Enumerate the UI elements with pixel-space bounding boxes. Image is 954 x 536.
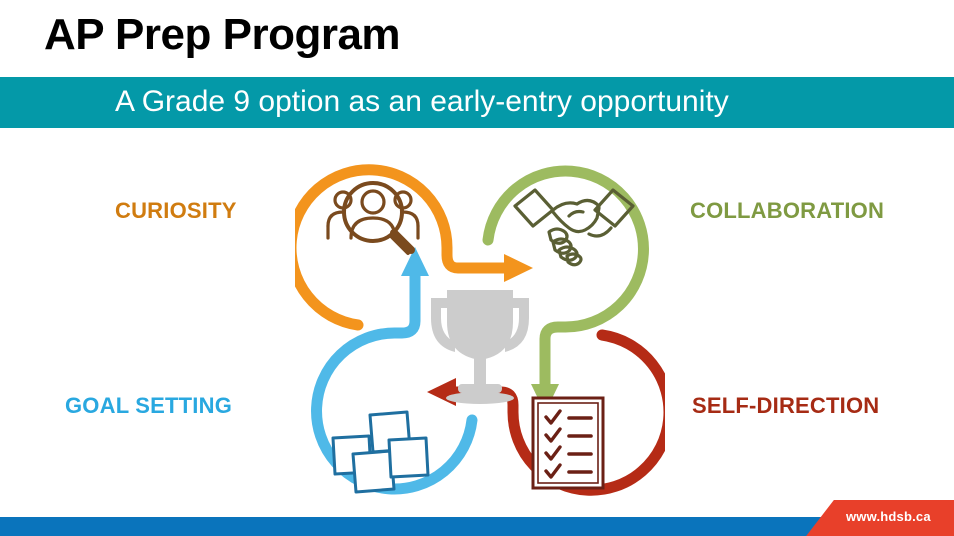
- arrow-head-self-direction: [427, 378, 456, 406]
- label-collaboration: COLLABORATION: [690, 198, 884, 224]
- label-goal-setting: GOAL SETTING: [65, 393, 232, 419]
- label-self-direction: SELF-DIRECTION: [692, 393, 879, 419]
- page-title: AP Prep Program: [44, 10, 400, 61]
- cycle-diagram: [295, 150, 665, 510]
- subtitle-text: A Grade 9 option as an early-entry oppor…: [115, 85, 729, 119]
- label-curiosity: CURIOSITY: [115, 198, 237, 224]
- website-url[interactable]: www.hdsb.ca: [846, 509, 931, 524]
- handshake-icon: [515, 190, 633, 265]
- arrow-head-curiosity: [504, 254, 533, 282]
- magnifier-people-icon: [328, 183, 418, 253]
- slide-canvas: AP Prep Program A Grade 9 option as an e…: [0, 0, 954, 536]
- checklist-icon: [533, 398, 603, 488]
